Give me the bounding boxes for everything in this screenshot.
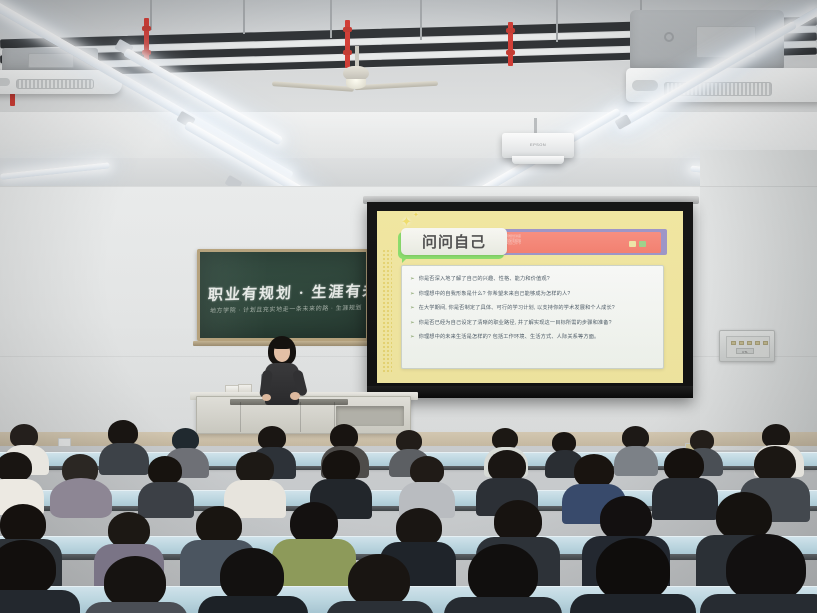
student-head [220,548,284,603]
lecture-hall-photo: EPSON CTL 职业有规划 · 生涯有未来 地方学院 · 计划且充实地走一条… [0,0,817,613]
right-wall [700,150,817,450]
podium-panel-seam [300,402,301,432]
student-head [600,496,652,541]
student [664,448,712,494]
sprinkler-head-icon [142,50,151,55]
student-head [290,502,338,544]
presenter [268,336,302,406]
sprinkler-pipe [508,22,513,66]
hanger-rod [243,0,245,34]
student [726,534,817,613]
sparkle-icon: ✦ [413,212,419,219]
projector-body: EPSON [502,133,574,158]
bullet-text: 你是否已经为自己设定了清晰的职业路径, 并了解实现这一目标所需的步骤和准备? [419,319,612,327]
student [0,540,68,613]
student-head [596,538,670,602]
student [0,452,40,494]
fan-blade [272,81,354,92]
slide-title-tail [402,254,411,263]
bullet-text: 在大学期间, 你是否制定了具体、可行的学习计划, 以支持你的学术发展和个人成长? [419,304,615,312]
student-head [0,540,56,596]
fan-downrod [355,46,359,68]
student-head [104,556,166,608]
control-button[interactable] [731,341,736,345]
bullet-chevron-icon: ➢ [410,290,415,298]
presenter-hand [262,394,271,401]
wall-outlet [58,438,71,447]
student-head [574,454,614,488]
sprinkler-head-icon [142,26,151,31]
ac-vent [0,78,10,86]
ac-access-plate [28,53,74,68]
wall-seam [0,186,817,187]
sparkle-icon: ✦ [401,215,412,228]
student-head [148,456,182,485]
student-head [726,534,806,602]
student-body [700,594,817,613]
slide-bullet-item: ➢ 你是否已经为自己设定了清晰的职业路径, 并了解实现这一目标所需的步骤和准备? [410,319,655,327]
blackboard: 职业有规划 · 生涯有未来 地方学院 · 计划且充实地走一条未来的路 · 生涯规… [197,249,369,341]
slide-content-card: ➢ 你是否深入地了解了自己的兴趣、性格、能力和价值观? ➢ 你理想中的自我形象是… [401,265,664,369]
hanger-rod [420,0,422,40]
presentation-slide: 生涯规划讲座 自我探索模块 问问自己环节 ✦ ✦ 问问自己 ➢ 你是否深入地了解… [377,211,683,383]
ac-dial-icon [664,32,674,42]
wall-control-panel[interactable]: CTL [719,330,775,362]
ceiling: EPSON [0,0,817,200]
sprinkler-head-icon [343,27,352,32]
bullet-text: 你理想中的未来生活是怎样的? 包括工作环境、生活方式、人际关系等方面。 [419,333,600,341]
hanger-rod [330,0,332,38]
student-body [444,597,562,613]
hanger-rod [556,0,558,42]
student-head [0,504,46,544]
slide-dotted-decoration [382,249,392,373]
bullet-chevron-icon: ➢ [410,304,415,312]
student [62,454,106,496]
projector-brand-label: EPSON [530,142,546,147]
fan-blade [354,81,438,90]
sprinkler-head-icon [506,50,515,55]
sprinkler-head-icon [506,28,515,33]
student-body [0,590,80,613]
student-head [468,544,538,604]
student [108,512,158,560]
sprinkler-pipe [345,20,350,68]
student-body [84,602,188,613]
student-hood [50,478,112,518]
student [290,502,348,558]
student-head [494,500,542,542]
student-head [664,448,704,482]
control-panel-face [726,336,770,358]
student-head [108,512,150,548]
student-body [326,601,434,613]
slide-title-text: 问问自己 [422,231,486,252]
blackboard-main-text: 职业有规划 · 生涯有未来 [207,280,364,305]
student [148,456,190,496]
fan-light-icon [346,79,366,89]
slide-bullet-item: ➢ 你理想中的未来生活是怎样的? 包括工作环境、生活方式、人际关系等方面。 [410,333,655,341]
student-body [570,594,696,613]
bullet-chevron-icon: ➢ [410,275,415,283]
student [104,556,176,613]
podium-shelf [336,406,404,426]
student-head [754,446,796,482]
projector-lens [512,156,564,164]
bullet-text: 你理想中的自我形象是什么? 你希望未来自己能够成为怎样的人? [419,290,571,298]
slide-banner-chip [639,241,646,247]
student-head [0,452,32,482]
control-button[interactable] [739,341,744,345]
ceiling-beam-lower [0,158,817,188]
student [220,548,296,613]
student-head [348,554,410,607]
student [322,450,368,496]
student [396,508,450,560]
student [410,456,452,496]
student [236,452,282,496]
slide-banner-chip [629,241,636,247]
bullet-chevron-icon: ➢ [410,319,415,327]
student [488,450,534,494]
presenter-fringe [272,340,292,349]
student-head [410,456,444,485]
ac-grille [16,79,94,89]
bullet-text: 你是否深入地了解了自己的兴趣、性格、能力和价值观? [419,275,550,283]
ac-vent [632,80,658,91]
slide-title-bubble: 问问自己 [401,228,507,255]
control-button[interactable] [755,341,760,345]
sprinkler-head-icon [343,50,352,55]
student-body [99,443,149,475]
student [754,446,804,494]
student-body [198,596,308,613]
student [596,538,684,613]
podium-panel-seam [240,402,241,432]
student-head [716,492,772,540]
student [108,420,144,456]
presenter-hand [290,392,300,400]
control-button[interactable] [747,341,752,345]
slide-bullet-item: ➢ 在大学期间, 你是否制定了具体、可行的学习计划, 以支持你的学术发展和个人成… [410,304,655,312]
student [348,554,422,613]
student [622,426,654,458]
student [574,454,622,500]
control-button[interactable] [763,341,768,345]
control-panel-label: CTL [736,348,754,354]
slide-bullet-item: ➢ 你理想中的自我形象是什么? 你希望未来自己能够成为怎样的人? [410,290,655,298]
slide-bullet-item: ➢ 你是否深入地了解了自己的兴趣、性格、能力和价值观? [410,275,655,283]
projector-mount-arm [534,118,537,134]
student [468,544,550,613]
bullet-chevron-icon: ➢ [410,333,415,341]
